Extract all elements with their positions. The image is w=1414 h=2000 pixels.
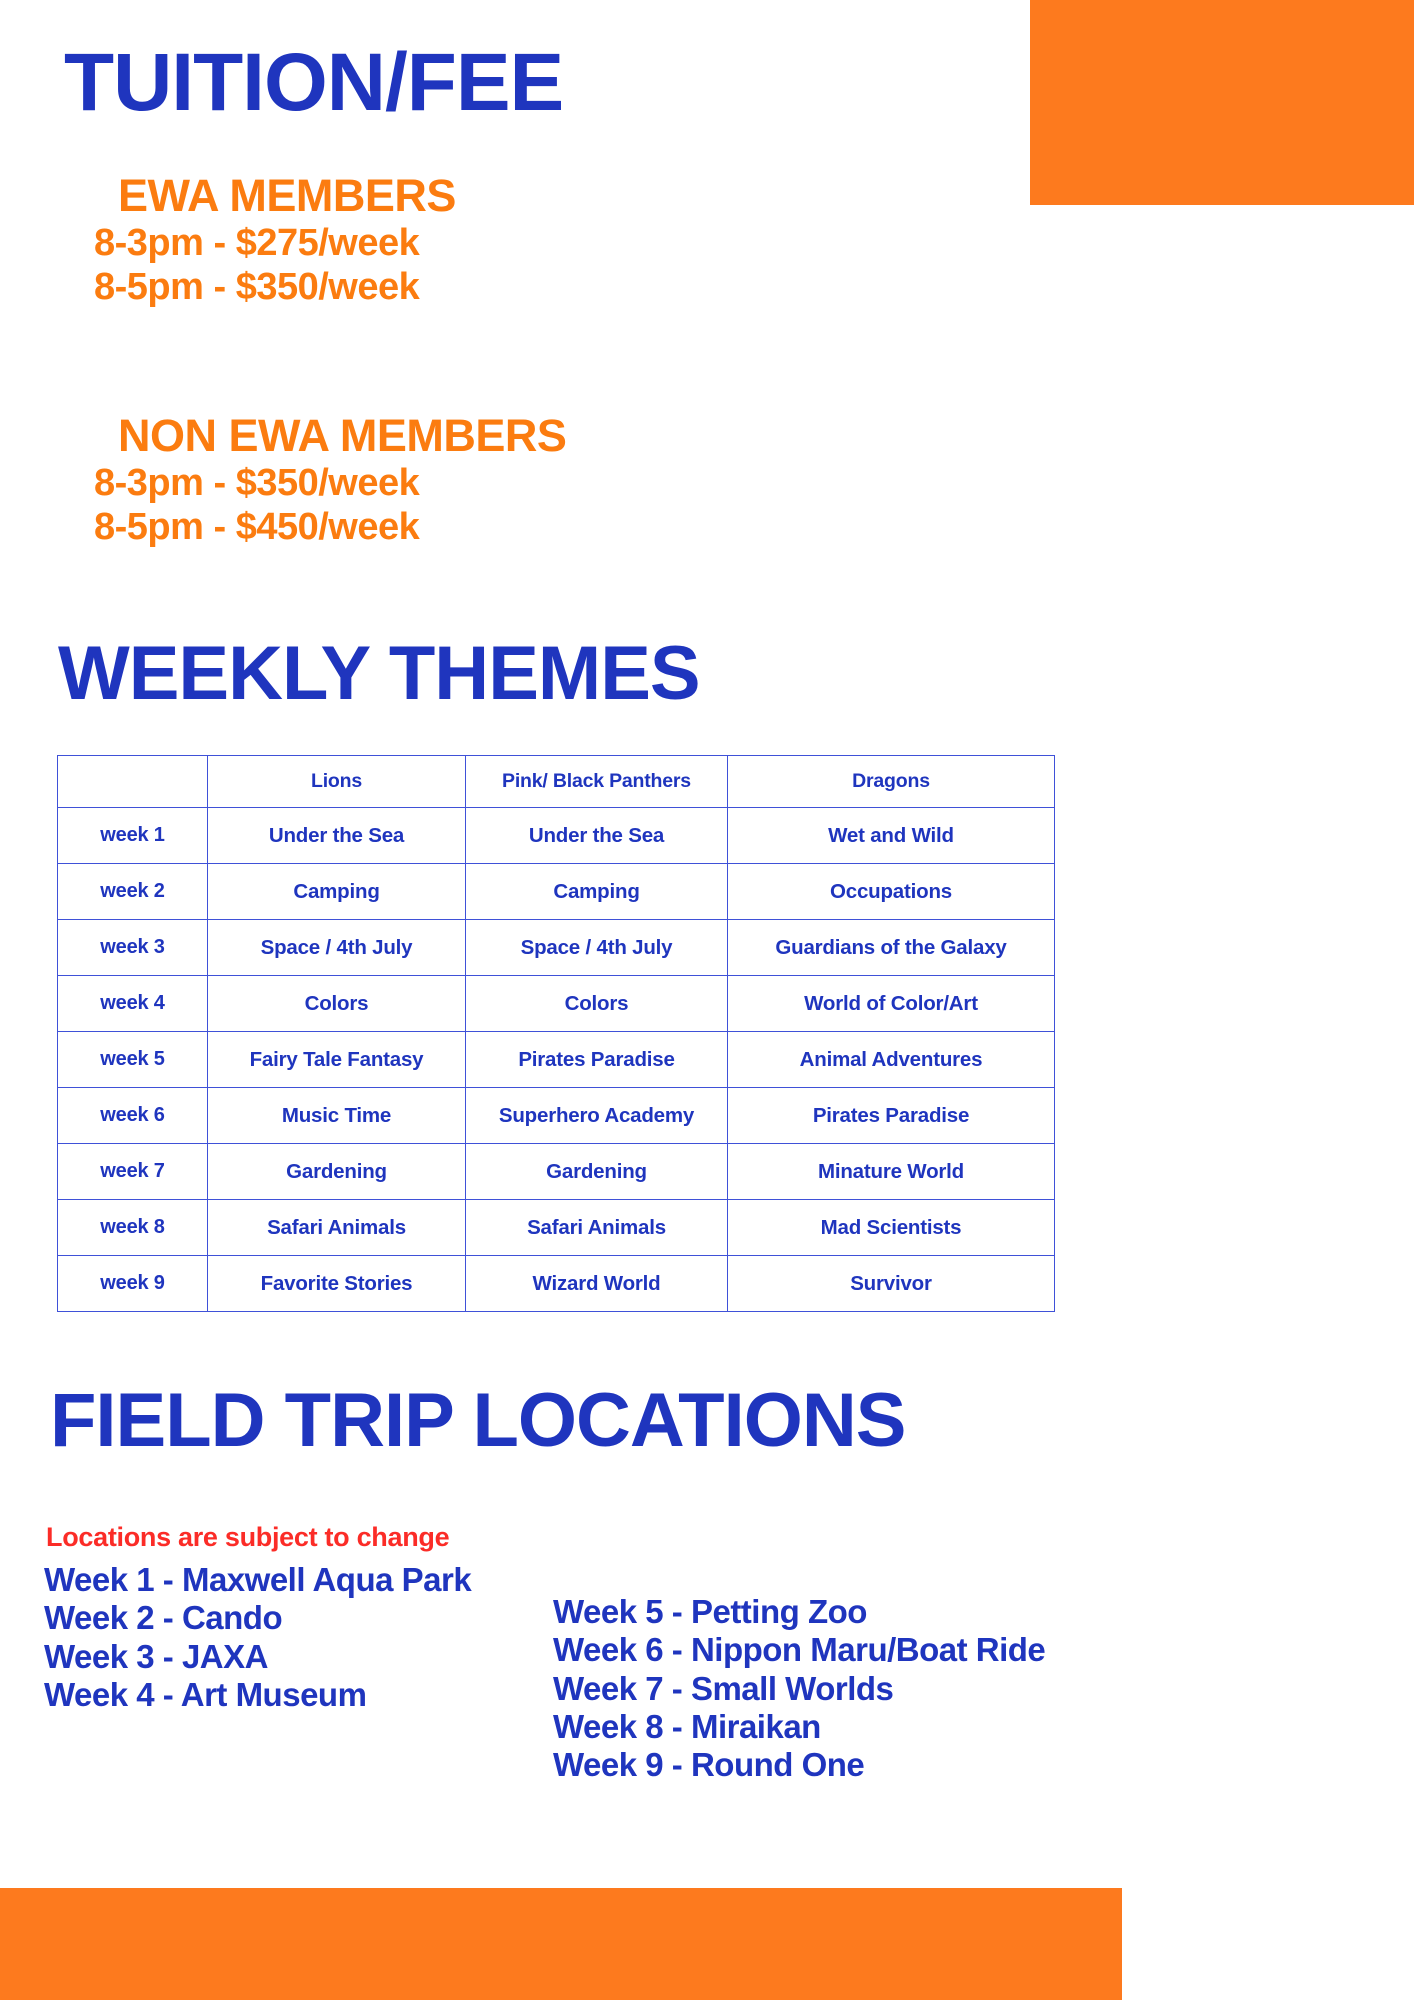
decorative-orange-block-top-right xyxy=(1030,0,1414,205)
theme-cell-lions: Gardening xyxy=(208,1144,466,1200)
field-trip-item: Week 7 - Small Worlds xyxy=(553,1670,1045,1708)
field-trip-item: Week 3 - JAXA xyxy=(44,1638,471,1676)
week-label: week 2 xyxy=(58,864,208,920)
fee-line: 8-5pm - $350/week xyxy=(94,265,456,310)
week-label: week 5 xyxy=(58,1032,208,1088)
weekly-themes-table: Lions Pink/ Black Panthers Dragons week … xyxy=(57,755,1055,1312)
table-row: week 2 Camping Camping Occupations xyxy=(58,864,1055,920)
fee-line: 8-3pm - $350/week xyxy=(94,461,566,506)
theme-cell-dragons: Occupations xyxy=(728,864,1055,920)
fee-group-ewa-members: EWA MEMBERS 8-3pm - $275/week 8-5pm - $3… xyxy=(118,172,456,310)
week-label: week 8 xyxy=(58,1200,208,1256)
weekly-themes-title: WEEKLY THEMES xyxy=(58,636,700,712)
field-trip-item: Week 8 - Miraikan xyxy=(553,1708,1045,1746)
table-row: week 4 Colors Colors World of Color/Art xyxy=(58,976,1055,1032)
field-trip-list-left: Week 1 - Maxwell Aqua Park Week 2 - Cand… xyxy=(44,1561,471,1714)
field-trip-locations-title: FIELD TRIP LOCATIONS xyxy=(50,1383,905,1459)
table-row: week 3 Space / 4th July Space / 4th July… xyxy=(58,920,1055,976)
table-row: week 6 Music Time Superhero Academy Pira… xyxy=(58,1088,1055,1144)
theme-cell-lions: Under the Sea xyxy=(208,808,466,864)
week-label: week 1 xyxy=(58,808,208,864)
theme-cell-lions: Favorite Stories xyxy=(208,1256,466,1312)
decorative-orange-block-bottom-left xyxy=(0,1888,1122,2000)
theme-cell-panthers: Superhero Academy xyxy=(466,1088,728,1144)
theme-cell-dragons: Mad Scientists xyxy=(728,1200,1055,1256)
flyer-page: TUITION/FEE EWA MEMBERS 8-3pm - $275/wee… xyxy=(0,0,1414,2000)
fee-line: 8-3pm - $275/week xyxy=(94,221,456,266)
fee-group-non-ewa-members: NON EWA MEMBERS 8-3pm - $350/week 8-5pm … xyxy=(118,412,566,550)
fee-group-heading: EWA MEMBERS xyxy=(118,172,456,221)
theme-cell-dragons: World of Color/Art xyxy=(728,976,1055,1032)
fee-group-heading: NON EWA MEMBERS xyxy=(118,412,566,461)
theme-cell-dragons: Guardians of the Galaxy xyxy=(728,920,1055,976)
theme-cell-panthers: Under the Sea xyxy=(466,808,728,864)
theme-cell-panthers: Gardening xyxy=(466,1144,728,1200)
table-header-row: Lions Pink/ Black Panthers Dragons xyxy=(58,756,1055,808)
theme-cell-lions: Fairy Tale Fantasy xyxy=(208,1032,466,1088)
week-label: week 6 xyxy=(58,1088,208,1144)
theme-cell-lions: Camping xyxy=(208,864,466,920)
theme-cell-panthers: Pirates Paradise xyxy=(466,1032,728,1088)
theme-cell-panthers: Space / 4th July xyxy=(466,920,728,976)
table-row: week 9 Favorite Stories Wizard World Sur… xyxy=(58,1256,1055,1312)
table-row: week 8 Safari Animals Safari Animals Mad… xyxy=(58,1200,1055,1256)
tuition-title: TUITION/FEE xyxy=(64,42,563,124)
field-trip-item: Week 5 - Petting Zoo xyxy=(553,1593,1045,1631)
theme-cell-panthers: Wizard World xyxy=(466,1256,728,1312)
theme-cell-lions: Safari Animals xyxy=(208,1200,466,1256)
field-trip-disclaimer: Locations are subject to change xyxy=(46,1522,449,1553)
week-label: week 3 xyxy=(58,920,208,976)
field-trip-item: Week 6 - Nippon Maru/Boat Ride xyxy=(553,1631,1045,1669)
field-trip-item: Week 2 - Cando xyxy=(44,1599,471,1637)
theme-cell-lions: Music Time xyxy=(208,1088,466,1144)
theme-cell-panthers: Safari Animals xyxy=(466,1200,728,1256)
table-row: week 7 Gardening Gardening Minature Worl… xyxy=(58,1144,1055,1200)
theme-cell-dragons: Pirates Paradise xyxy=(728,1088,1055,1144)
table-row: week 1 Under the Sea Under the Sea Wet a… xyxy=(58,808,1055,864)
column-header-panthers: Pink/ Black Panthers xyxy=(466,756,728,808)
theme-cell-lions: Colors xyxy=(208,976,466,1032)
week-label: week 9 xyxy=(58,1256,208,1312)
theme-cell-dragons: Wet and Wild xyxy=(728,808,1055,864)
field-trip-list-right: Week 5 - Petting Zoo Week 6 - Nippon Mar… xyxy=(553,1593,1045,1784)
table-row: week 5 Fairy Tale Fantasy Pirates Paradi… xyxy=(58,1032,1055,1088)
theme-cell-panthers: Camping xyxy=(466,864,728,920)
theme-cell-panthers: Colors xyxy=(466,976,728,1032)
field-trip-item: Week 1 - Maxwell Aqua Park xyxy=(44,1561,471,1599)
column-header-lions: Lions xyxy=(208,756,466,808)
theme-cell-lions: Space / 4th July xyxy=(208,920,466,976)
field-trip-item: Week 9 - Round One xyxy=(553,1746,1045,1784)
theme-cell-dragons: Animal Adventures xyxy=(728,1032,1055,1088)
theme-cell-dragons: Minature World xyxy=(728,1144,1055,1200)
fee-line: 8-5pm - $450/week xyxy=(94,505,566,550)
week-label: week 4 xyxy=(58,976,208,1032)
week-label: week 7 xyxy=(58,1144,208,1200)
theme-cell-dragons: Survivor xyxy=(728,1256,1055,1312)
field-trip-item: Week 4 - Art Museum xyxy=(44,1676,471,1714)
column-header-dragons: Dragons xyxy=(728,756,1055,808)
column-header-weeks xyxy=(58,756,208,808)
